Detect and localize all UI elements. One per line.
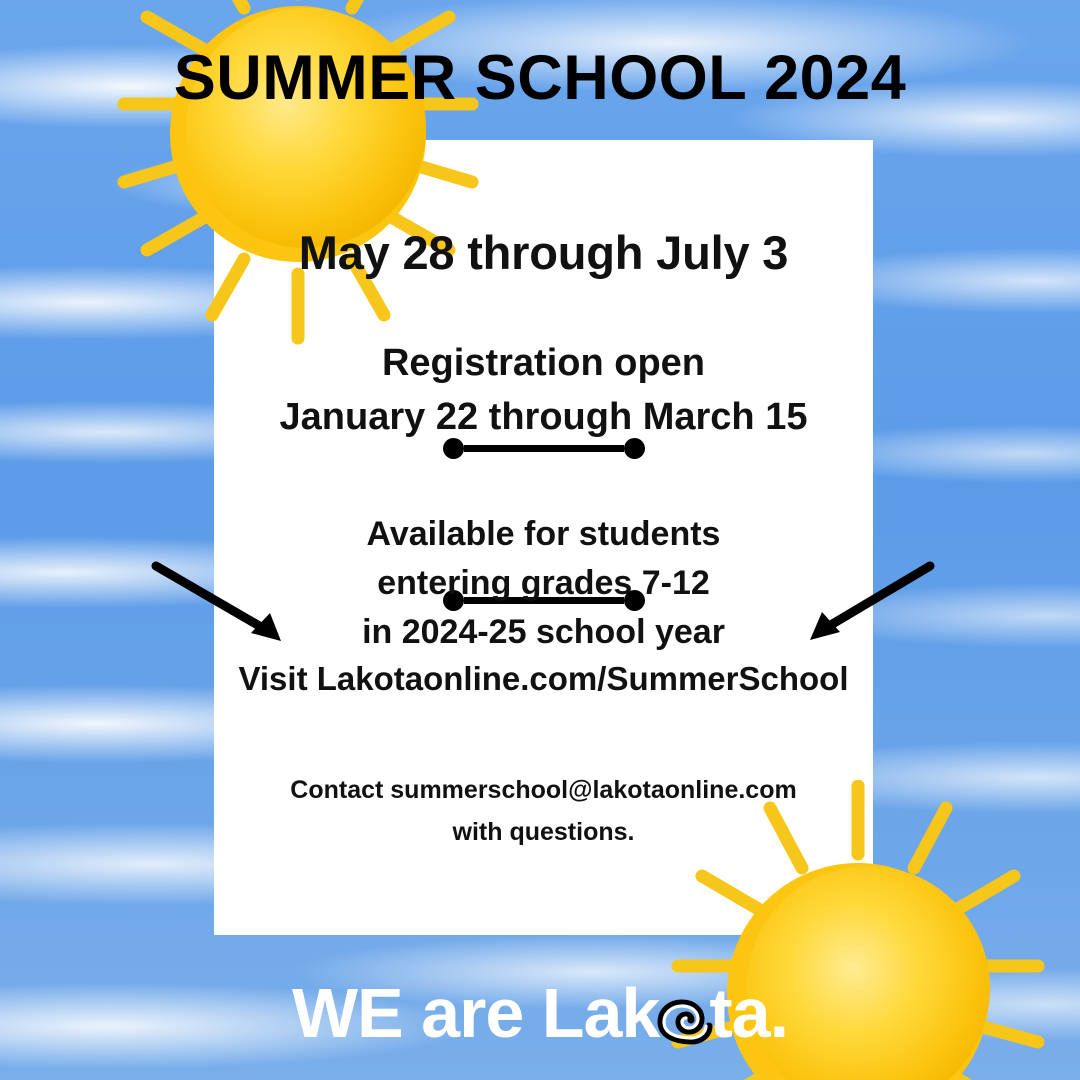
registration-line-1: Registration open: [214, 336, 873, 390]
contact-email-line[interactable]: Contact summerschool@lakotaonline.com: [214, 769, 873, 811]
registration-line-2: January 22 through March 15: [214, 390, 873, 444]
page-title: SUMMER SCHOOL 2024: [0, 42, 1080, 114]
divider-bar: [464, 445, 624, 452]
poster: SUMMER SCHOOL 2024 May 28 through July 3…: [0, 0, 1080, 1080]
contact-block: Contact summerschool@lakotaonline.com wi…: [214, 769, 873, 853]
footer-text-after: ta.: [709, 972, 788, 1054]
card-content: May 28 through July 3 Registration open …: [214, 140, 873, 935]
footer-brand: WE are Lak ta.: [0, 972, 1080, 1054]
lakota-spiral-logo: [653, 989, 713, 1049]
footer-text-before: WE are Lak: [292, 972, 659, 1054]
eligibility-block: Available for students entering grades 7…: [214, 510, 873, 657]
eligibility-line-1: Available for students: [214, 510, 873, 559]
registration-block: Registration open January 22 through Mar…: [214, 336, 873, 444]
session-dates: May 28 through July 3: [214, 225, 873, 280]
contact-questions-line: with questions.: [214, 811, 873, 853]
website-url[interactable]: Visit Lakotaonline.com/SummerSchool: [214, 660, 873, 698]
eligibility-line-2: entering grades 7-12: [214, 559, 873, 608]
eligibility-line-3: in 2024-25 school year: [214, 608, 873, 657]
